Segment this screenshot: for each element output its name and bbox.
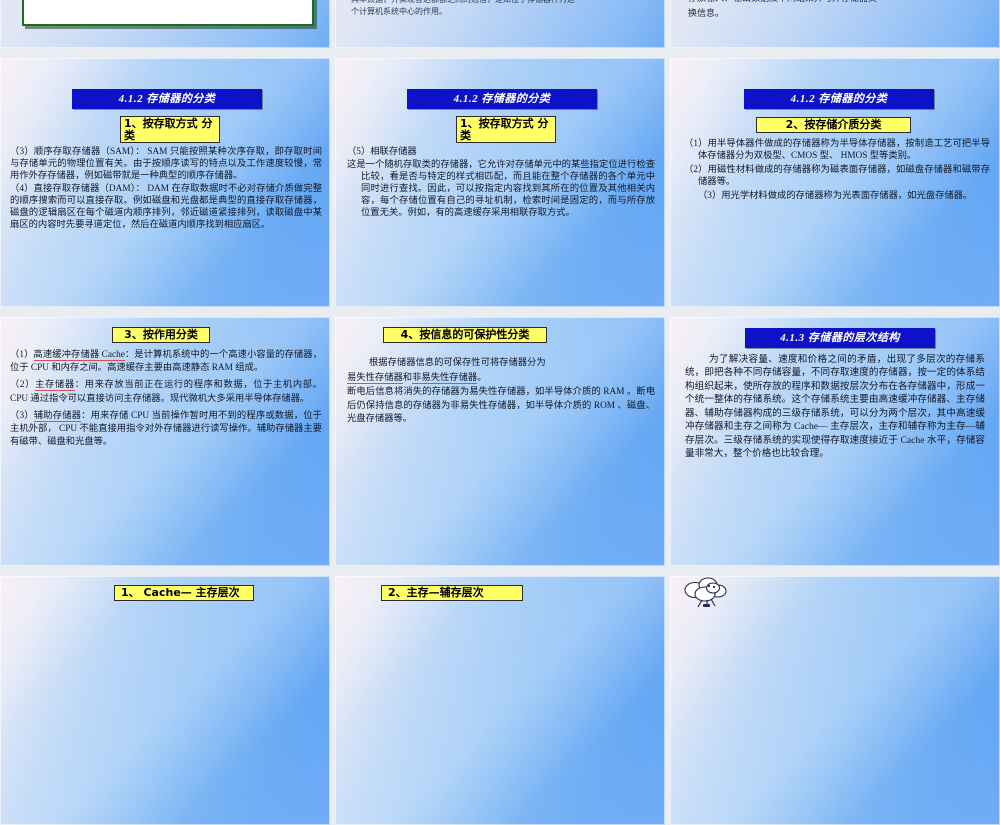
paragraph: （1）用半导体器件做成的存储器称为半导体存储器，按制造工艺可把半导体存储器分为双… (684, 138, 990, 163)
row-gutter-2 (0, 307, 1000, 317)
text-line: 存放输入、输出数据及中间结果并与外存储器交 (688, 0, 988, 6)
text-line: 具率数据，并实现各达部部之间的通信，是知位于存储器件为这 (351, 0, 651, 5)
subsection-highlight: 2、主存—辅存层次 (381, 585, 523, 601)
item-lead: （2） (10, 380, 35, 390)
slide-bottom-3[interactable]: 4.1.3 存储器的层次结构 为了解决容量、速度和价格之间的矛盾，出现了多层次的… (670, 317, 1000, 566)
paragraph: 为了解决容量、速度和价格之间的矛盾，出现了多层次的存储系统，即把各种不同存储容量… (685, 353, 985, 460)
section-banner: 4.1.2 存储器的分类 (72, 89, 262, 109)
slide-top-3-body: 存放输入、输出数据及中间结果并与外存储器交 换信息。 (688, 0, 988, 22)
conjunction: 和 (403, 373, 412, 383)
white-content-box (22, 0, 314, 26)
subsection-highlight: 1、 Cache— 主存层次 (114, 585, 254, 601)
slide-bottom-2-body: 根据存储器信息的可保存性可将存储器分为 易失性存储器和非易失性存储器。 断电后信… (347, 357, 655, 428)
slide-mid-2-body: （5）相联存储器 这是一个随机存取类的存储器，它允许对存储单元中的某些指定位进行… (347, 146, 655, 220)
row-gutter-1 (0, 48, 1000, 58)
paragraph: 这是一个随机存取类的存储器，它允许对存储单元中的某些指定位进行检查比较，看是否与… (347, 159, 655, 219)
key-term-underlined: 辅助存储器 (34, 411, 81, 422)
key-term-underlined: 非易失性存储器 (412, 373, 477, 384)
row-gutter-3 (0, 566, 1000, 576)
text-line: 换信息。 (688, 7, 988, 21)
paragraph: （2）用磁性材料做成的存储器称为磁表面存储器，如磁盘存储器和磁带存储器等。 (684, 164, 990, 189)
subsection-highlight: 3、按作用分类 (112, 327, 210, 343)
slide-mid-1[interactable]: 4.1.2 存储器的分类 1、按存取方式 分类 （3）顺序存取存储器（SAM）：… (0, 58, 330, 307)
slide-top-3[interactable]: 存放输入、输出数据及中间结果并与外存储器交 换信息。 (670, 0, 1000, 48)
slide-top-2-body: 具率数据，并实现各达部部之间的通信，是知位于存储器件为这 个计算机系统中心的作用… (351, 0, 651, 19)
slide-mid-3-body: （1）用半导体器件做成的存储器称为半导体存储器，按制造工艺可把半导体存储器分为双… (684, 138, 990, 203)
slide-bottom-2[interactable]: 4、按信息的可保护性分类 根据存储器信息的可保存性可将存储器分为 易失性存储器和… (335, 317, 665, 566)
period: 。 (477, 373, 486, 383)
key-term-underlined: 高速缓冲存储器 Cache (34, 350, 125, 361)
key-term-underlined: 主存储器 (35, 380, 75, 391)
paragraph: （3）顺序存取存储器（SAM）： SAM 只能按照某种次序存取，即存取时间与存储… (10, 146, 322, 182)
slide-top-2[interactable]: 具率数据，并实现各达部部之间的通信，是知位于存储器件为这 个计算机系统中心的作用… (335, 0, 665, 48)
slide-top-1[interactable] (0, 0, 330, 48)
slide-cut-1[interactable]: 1、 Cache— 主存层次 (0, 576, 330, 825)
paragraph: 根据存储器信息的可保存性可将存储器分为 (347, 357, 655, 371)
subsection-highlight: 1、按存取方式 分类 (120, 116, 220, 143)
section-banner: 4.1.2 存储器的分类 (407, 89, 597, 109)
slide-grid: 具率数据，并实现各达部部之间的通信，是知位于存储器件为这 个计算机系统中心的作用… (0, 0, 1000, 600)
slide-bottom-1-body: （1）高速缓冲存储器 Cache：是计算机系统中的一个高速小容量的存储器，位于 … (10, 349, 322, 450)
slide-bottom-1[interactable]: 3、按作用分类 （1）高速缓冲存储器 Cache：是计算机系统中的一个高速小容量… (0, 317, 330, 566)
subsection-highlight-visible: 2、按存储介质分类 (756, 117, 911, 133)
subsection-highlight: 4、按信息的可保护性分类 (383, 327, 547, 343)
paragraph: （3）用光学材料做成的存储器称为光表面存储器，如光盘存储器。 (684, 190, 990, 202)
slide-mid-3[interactable]: 4.1.2 存储器的分类 2、按存储介质分类 2、按存储介质分类 （1）用半导体… (670, 58, 1000, 307)
text-line: 个计算机系统中心的作用。 (351, 6, 651, 17)
key-term-underlined: 易失性存储器 (347, 373, 403, 384)
sheep-clipart (678, 576, 734, 608)
section-banner: 4.1.3 存储器的层次结构 (745, 328, 935, 348)
slide-cut-2[interactable]: 2、主存—辅存层次 (335, 576, 665, 825)
slide-mid-2[interactable]: 4.1.2 存储器的分类 1、按存取方式 分类 （5）相联存储器 这是一个随机存… (335, 58, 665, 307)
paragraph: （5）相联存储器 (347, 146, 655, 158)
item-lead: （3） (10, 411, 34, 421)
section-banner: 4.1.2 存储器的分类 (744, 89, 934, 109)
paragraph: 断电后信息将消失的存储器为易失性存储器，如半导体介质的 RAM 。断电后仍保持信… (347, 386, 655, 427)
subsection-highlight: 1、按存取方式 分类 (456, 116, 556, 143)
slide-bottom-3-body: 为了解决容量、速度和价格之间的矛盾，出现了多层次的存储系统，即把各种不同存储容量… (685, 353, 985, 461)
slide-cut-3[interactable] (670, 576, 1000, 825)
item-lead: （1） (10, 350, 34, 360)
paragraph: （4）直接存取存储器（DAM）： DAM 在存取数据时不必对存储介质做完整的顺序… (10, 183, 322, 231)
slide-mid-1-body: （3）顺序存取存储器（SAM）： SAM 只能按照某种次序存取，即存取时间与存储… (10, 146, 322, 233)
